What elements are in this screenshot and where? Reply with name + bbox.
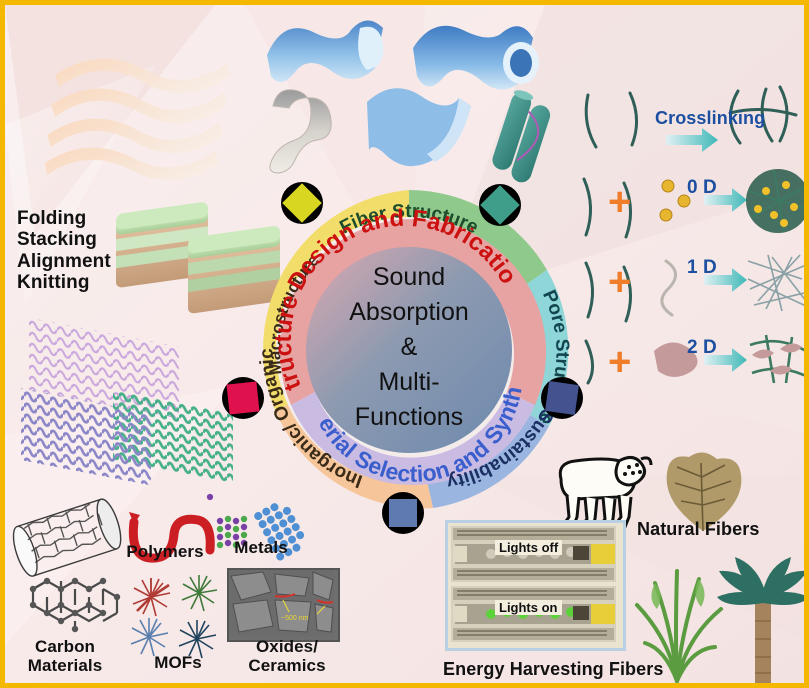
- breadboard-lights-on: Lights on: [451, 586, 616, 642]
- fiber-cross-section-shapes: [255, 10, 555, 175]
- node-inorganic-organic[interactable]: [381, 491, 425, 535]
- label-0d: 0 D: [687, 177, 717, 198]
- label-carbon-materials: CarbonMaterials: [5, 637, 125, 675]
- central-hub-diagram: Fiber Structure Pore Structure Sustainab…: [219, 160, 599, 540]
- fabric-process-line-3: Knitting: [17, 272, 111, 293]
- core-line-2: &: [401, 333, 418, 361]
- fabric-process-line-1: Stacking: [17, 229, 111, 250]
- caption-lights-on: Lights on: [495, 600, 562, 615]
- label-natural-fibers: Natural Fibers: [637, 519, 759, 539]
- node-fiber-structure[interactable]: [280, 181, 324, 225]
- core-line-4: Functions: [355, 403, 463, 431]
- label-mofs: MOFs: [123, 653, 233, 672]
- plus-0d: +: [608, 180, 631, 224]
- label-1d: 1 D: [687, 257, 717, 278]
- core-line-3: Multi-: [378, 368, 439, 396]
- core-line-1: Absorption: [349, 298, 469, 326]
- sem-micrograph: ~500 nm: [227, 568, 340, 642]
- label-oxides-ceramics: Oxides/Ceramics: [233, 637, 341, 675]
- label-2d: 2 D: [687, 337, 717, 358]
- figure-root: Folding Stacking Alignment Knitting: [0, 0, 809, 688]
- node-macrostructure[interactable]: [221, 376, 265, 420]
- node-sustainability[interactable]: [540, 376, 584, 420]
- label-energy-harvesting: Energy Harvesting Fibers: [443, 659, 663, 679]
- node-pore-structure[interactable]: [478, 183, 522, 227]
- label-metals: Metals: [211, 538, 311, 557]
- core-line-0: Sound: [373, 263, 445, 291]
- plus-1d: +: [608, 260, 631, 304]
- fabric-process-line-0: Folding: [17, 208, 111, 229]
- plus-2d: +: [608, 340, 631, 384]
- graphene-lattice-icon: [13, 563, 133, 645]
- palm-tree-icon: [717, 553, 809, 685]
- fabric-process-line-2: Alignment: [17, 251, 111, 272]
- caption-lights-off: Lights off: [495, 540, 562, 555]
- label-crosslinking: Crosslinking: [655, 108, 765, 128]
- fabric-process-labels: Folding Stacking Alignment Knitting: [17, 208, 111, 293]
- label-polymers: Polymers: [110, 542, 220, 561]
- polymer-chain-icon: [120, 510, 220, 572]
- sem-scale-text: ~500 nm: [281, 615, 309, 622]
- mof-particles-icon: [123, 573, 233, 661]
